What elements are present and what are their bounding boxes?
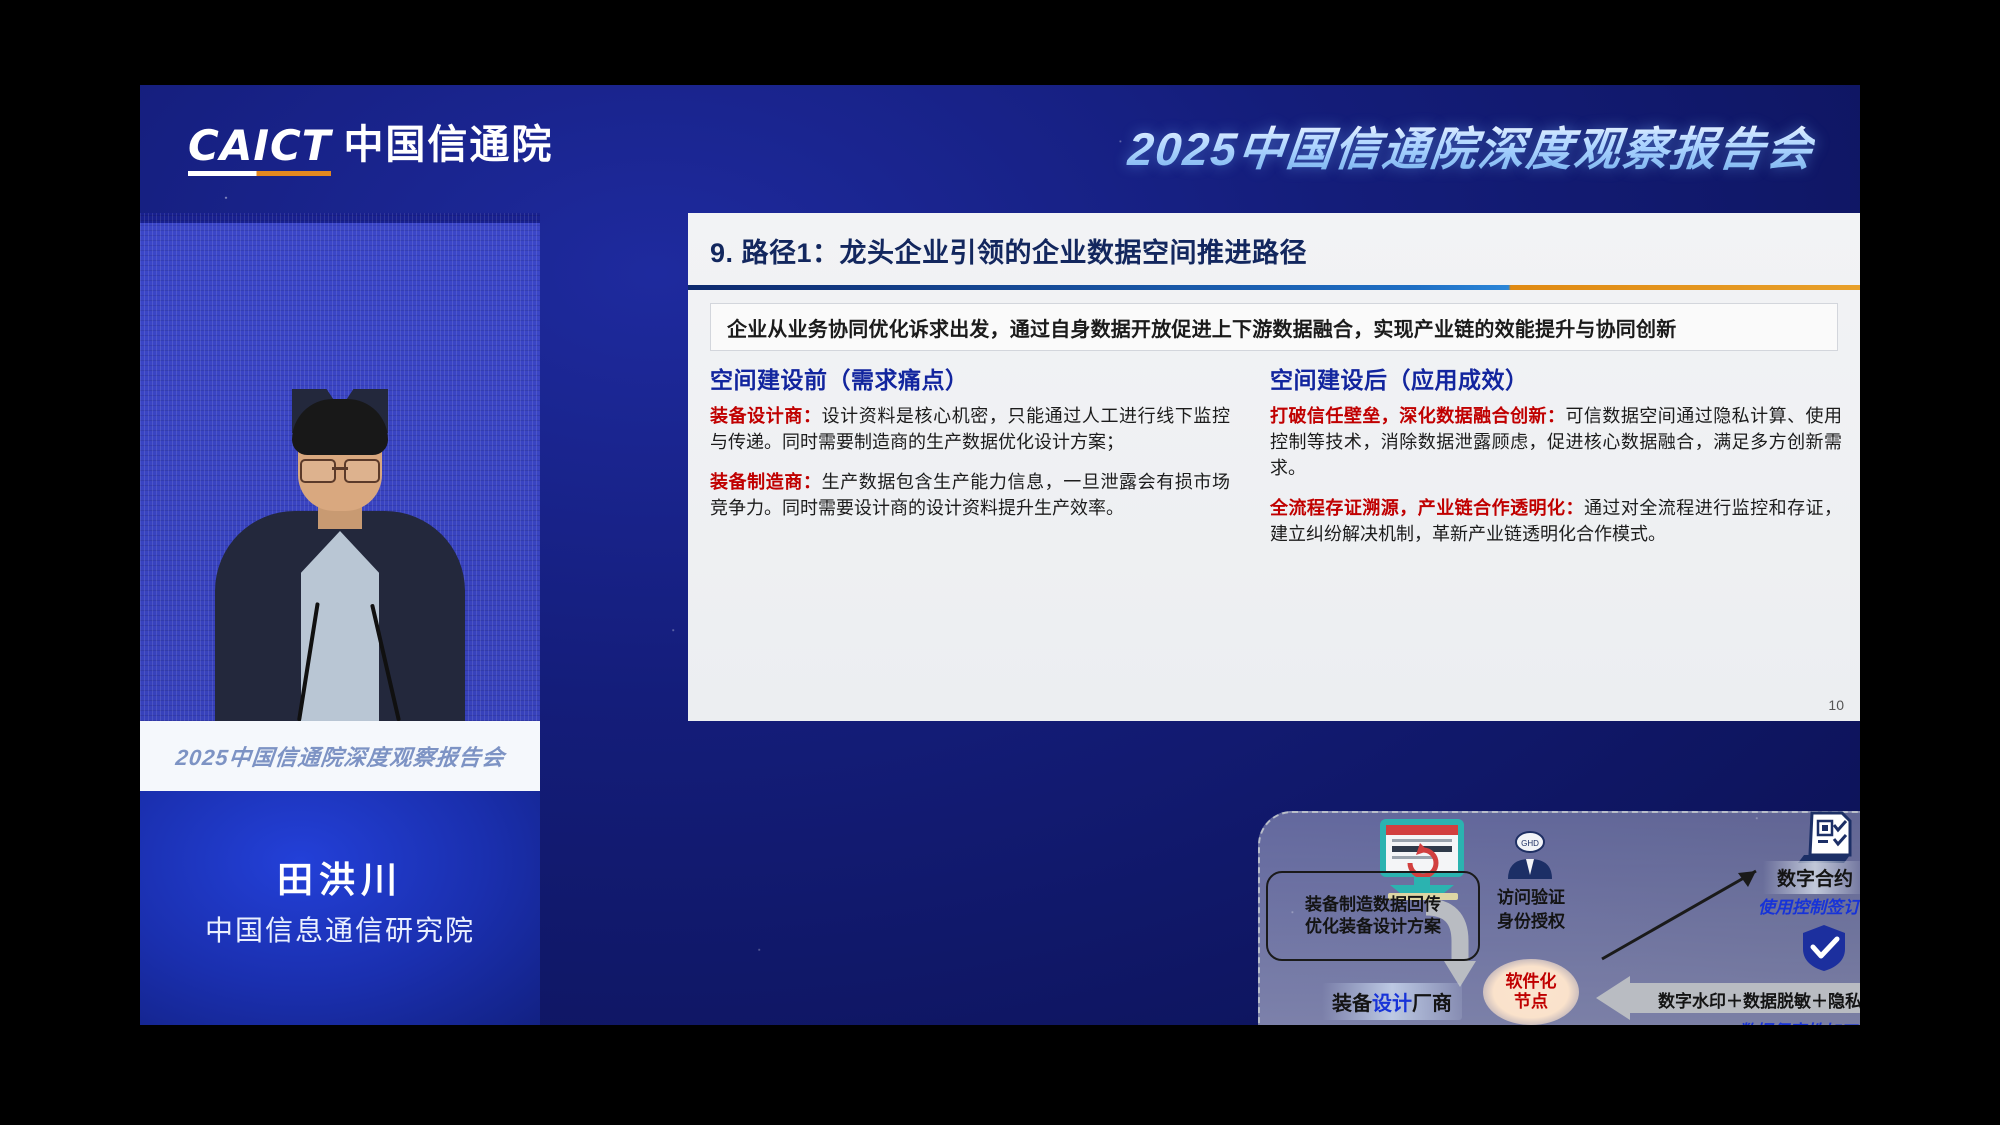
slide-banner: 企业从业务协同优化诉求出发，通过自身数据开放促进上下游数据融合，实现产业链的效能… bbox=[710, 303, 1838, 351]
left-party-highlight: 设计 bbox=[1372, 993, 1412, 1015]
contract-sub-label: 使用控制签订 bbox=[1758, 893, 1860, 918]
left-node-text: 软件化 节点 bbox=[1483, 959, 1579, 1025]
title-accent-rule bbox=[688, 285, 1860, 290]
left-auth-line-1: 访问验证 bbox=[1484, 883, 1578, 908]
glasses-lens-left bbox=[300, 459, 336, 483]
column-before: 空间建设前（需求痛点） 装备设计商：设计资料是核心机密，只能通过人工进行线下监控… bbox=[710, 361, 1230, 535]
shield-check-icon bbox=[1800, 923, 1848, 971]
digital-contract-label: 数字合约 bbox=[1763, 861, 1860, 894]
left-party-suffix: 厂商 bbox=[1412, 993, 1452, 1015]
left-callout-line-2: 优化装备设计方案 bbox=[1305, 916, 1441, 938]
glasses-bridge bbox=[332, 467, 348, 470]
speaker-name: 田洪川 bbox=[140, 851, 540, 903]
column-after-item-1: 全流程存证溯源，产业链合作透明化：通过对全流程进行监控和存证，建立纠纷解决机制，… bbox=[1270, 495, 1842, 547]
left-callout-text: 装备制造数据回传 优化装备设计方案 bbox=[1268, 873, 1478, 959]
broadcast-frame: CAICT 中国信通院 2025中国信通院深度观察报告会 bbox=[140, 85, 1860, 1025]
architecture-diagram: 装备制造数据回传 优化装备设计方案 装备设计厂商 GHD 访问验证 身份授权 bbox=[1258, 811, 1860, 1025]
column-after: 空间建设后（应用成效） 打破信任壁垒，深化数据融合创新：可信数据空间通过隐私计算… bbox=[1270, 361, 1842, 561]
lower-third-event-text: 2025中国信通院深度观察报告会 bbox=[174, 740, 506, 772]
caict-logo-icon: CAICT bbox=[188, 125, 331, 167]
left-party-prefix: 装备 bbox=[1332, 993, 1372, 1015]
caict-wordmark: CAICT bbox=[188, 125, 331, 167]
item-label: 装备制造商： bbox=[710, 472, 822, 492]
left-callout-line-1: 装备制造数据回传 bbox=[1305, 894, 1441, 916]
caict-logo-underline bbox=[188, 171, 331, 176]
left-auth-line-2: 身份授权 bbox=[1484, 907, 1578, 932]
presentation-slide: 9. 路径1：龙头企业引领的企业数据空间推进路径 企业从业务协同优化诉求出发，通… bbox=[688, 213, 1860, 721]
speaker-video bbox=[140, 213, 540, 721]
slide-page-number: 10 bbox=[1828, 697, 1844, 713]
item-label: 打破信任壁垒，深化数据融合创新： bbox=[1270, 406, 1565, 426]
speaker-figure bbox=[205, 391, 475, 721]
speaker-organization: 中国信息通信研究院 bbox=[140, 909, 540, 949]
event-title: 2025中国信通院深度观察报告会 bbox=[1125, 121, 1817, 179]
lower-third-event-strip: 2025中国信通院深度观察报告会 bbox=[140, 721, 540, 791]
column-after-item-0: 打破信任壁垒，深化数据融合创新：可信数据空间通过隐私计算、使用控制等技术，消除数… bbox=[1270, 403, 1842, 481]
item-label: 全流程存证溯源，产业链合作透明化： bbox=[1270, 498, 1584, 518]
svg-text:GHD: GHD bbox=[1521, 839, 1539, 848]
glasses-lens-right bbox=[344, 459, 380, 483]
flow-band-label: 数字水印＋数据脱敏＋隐私计算 bbox=[1658, 987, 1860, 1012]
column-after-heading: 空间建设后（应用成效） bbox=[1270, 361, 1842, 395]
flow-band-sub-label: 数据保密性加工 bbox=[1738, 1017, 1857, 1025]
broadcast-header: CAICT 中国信通院 2025中国信通院深度观察报告会 bbox=[140, 85, 1860, 213]
caict-logo: CAICT 中国信通院 bbox=[188, 125, 553, 167]
item-label: 装备设计商： bbox=[710, 406, 822, 426]
screenshot-root: CAICT 中国信通院 2025中国信通院深度观察报告会 bbox=[0, 0, 2000, 1125]
slide-title: 9. 路径1：龙头企业引领的企业数据空间推进路径 bbox=[710, 231, 1307, 270]
left-node-line-2: 节点 bbox=[1514, 992, 1548, 1012]
left-callout-box: 装备制造数据回传 优化装备设计方案 bbox=[1266, 871, 1480, 961]
column-before-heading: 空间建设前（需求痛点） bbox=[710, 361, 1230, 395]
lower-third-speaker-card: 田洪川 中国信息通信研究院 bbox=[140, 791, 540, 1025]
left-node-line-1: 软件化 bbox=[1506, 972, 1557, 992]
column-before-item-1: 装备制造商：生产数据包含生产能力信息，一旦泄露会有损市场竞争力。同时需要设计商的… bbox=[710, 469, 1230, 521]
caict-logo-chinese: 中国信通院 bbox=[343, 125, 553, 167]
left-party-label: 装备设计厂商 bbox=[1322, 983, 1462, 1020]
left-software-node: 软件化 节点 bbox=[1483, 959, 1579, 1025]
column-before-item-0: 装备设计商：设计资料是核心机密，只能通过人工进行线下监控与传递。同时需要制造商的… bbox=[710, 403, 1230, 455]
contract-document-icon bbox=[1796, 807, 1858, 863]
person-id-icon: GHD bbox=[1500, 829, 1560, 881]
speaker-glasses bbox=[300, 459, 380, 479]
slide-banner-text: 企业从业务协同优化诉求出发，通过自身数据开放促进上下游数据融合，实现产业链的效能… bbox=[711, 313, 1676, 342]
